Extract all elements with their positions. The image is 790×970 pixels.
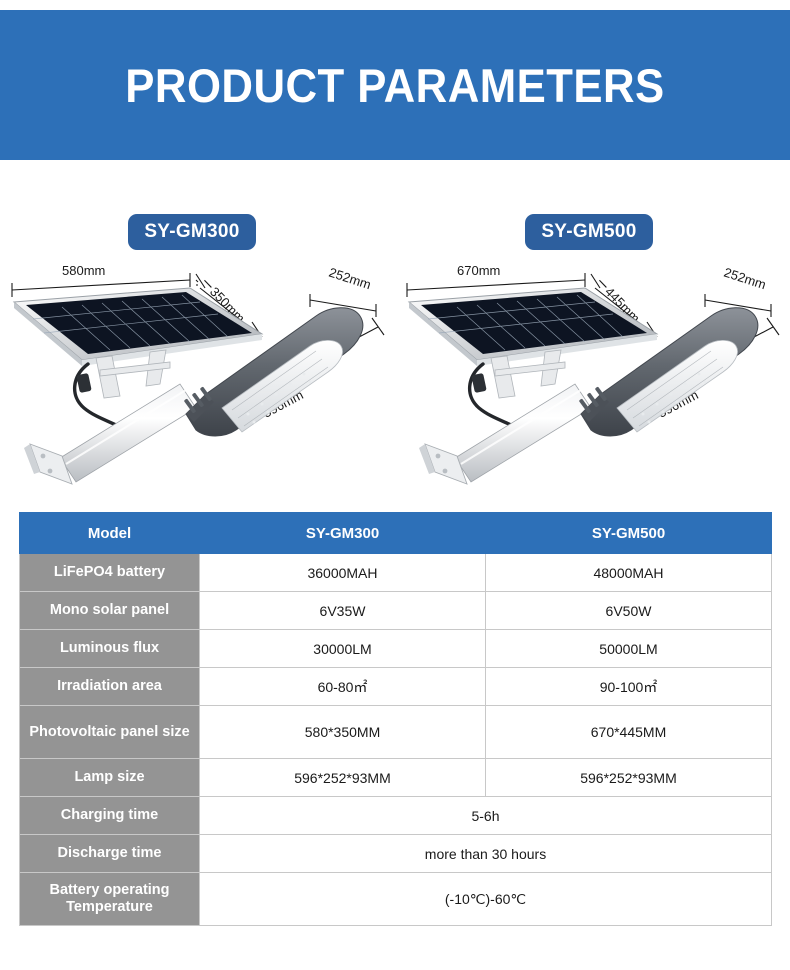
row-value-gm300: 596*252*93MM	[200, 759, 486, 797]
row-value-gm500: 6V50W	[486, 592, 772, 630]
row-value-gm500: 596*252*93MM	[486, 759, 772, 797]
page-header-banner: PRODUCT PARAMETERS	[0, 10, 790, 160]
row-label: Mono solar panel	[20, 592, 200, 630]
cable-connector	[471, 373, 486, 393]
row-label: Charging time	[20, 797, 200, 835]
product-illustrations: 580mm 350mm 252mm	[0, 258, 790, 498]
table-row: Lamp size 596*252*93MM 596*252*93MM	[20, 759, 772, 797]
dimension-label-panel-width: 670mm	[457, 263, 500, 278]
mounting-pole	[455, 384, 591, 482]
row-value-gm500: 90-100㎡	[486, 668, 772, 706]
row-value-gm500: 670*445MM	[486, 706, 772, 759]
table-row: Battery operating Temperature (-10℃)-60℃	[20, 873, 772, 926]
row-value-gm300: 60-80㎡	[200, 668, 486, 706]
product-figure-gm300: 580mm 350mm 252mm	[0, 258, 395, 498]
model-badge-gm500: SY-GM500	[525, 214, 653, 250]
table-body: LiFePO4 battery 36000MAH 48000MAH Mono s…	[20, 554, 772, 926]
table-header-gm500: SY-GM500	[486, 513, 772, 554]
mounting-pole	[60, 384, 196, 482]
table-header-row: Model SY-GM300 SY-GM500	[20, 513, 772, 554]
table-row: Irradiation area 60-80㎡ 90-100㎡	[20, 668, 772, 706]
row-value-gm300: 580*350MM	[200, 706, 486, 759]
wall-mount-bracket	[24, 444, 72, 484]
row-value-shared: more than 30 hours	[200, 835, 772, 873]
dimension-arrow-panel-depth	[204, 280, 211, 287]
table-row: Discharge time more than 30 hours	[20, 835, 772, 873]
table-row: Photovoltaic panel size 580*350MM 670*44…	[20, 706, 772, 759]
row-value-gm500: 48000MAH	[486, 554, 772, 592]
dimension-label-panel-width: 580mm	[62, 263, 105, 278]
dimension-arrow-panel-depth	[599, 280, 606, 287]
table-row: Luminous flux 30000LM 50000LM	[20, 630, 772, 668]
dimension-panel-depth	[196, 283, 198, 285]
row-value-shared: (-10℃)-60℃	[200, 873, 772, 926]
row-value-gm300: 6V35W	[200, 592, 486, 630]
specifications-table: Model SY-GM300 SY-GM500 LiFePO4 battery …	[19, 512, 772, 926]
dimension-label-lamp-width: 252mm	[327, 265, 373, 293]
row-value-gm500: 50000LM	[486, 630, 772, 668]
table-header-model: Model	[20, 513, 200, 554]
row-value-gm300: 36000MAH	[200, 554, 486, 592]
row-label: Lamp size	[20, 759, 200, 797]
table-row: Charging time 5-6h	[20, 797, 772, 835]
model-badge-gm300: SY-GM300	[128, 214, 256, 250]
row-value-gm300: 30000LM	[200, 630, 486, 668]
table-row: LiFePO4 battery 36000MAH 48000MAH	[20, 554, 772, 592]
table-header-gm300: SY-GM300	[200, 513, 486, 554]
wall-mount-bracket	[419, 444, 467, 484]
row-label: Discharge time	[20, 835, 200, 873]
row-value-shared: 5-6h	[200, 797, 772, 835]
model-badge-row: SY-GM300 SY-GM500	[0, 214, 790, 252]
cable-connector	[76, 373, 91, 393]
row-label: Irradiation area	[20, 668, 200, 706]
dimension-label-lamp-width: 252mm	[722, 265, 768, 293]
row-label: Battery operating Temperature	[20, 873, 200, 926]
row-label: LiFePO4 battery	[20, 554, 200, 592]
table-row: Mono solar panel 6V35W 6V50W	[20, 592, 772, 630]
page-title: PRODUCT PARAMETERS	[125, 58, 664, 113]
row-label: Photovoltaic panel size	[20, 706, 200, 759]
row-label: Luminous flux	[20, 630, 200, 668]
product-figure-gm500: 670mm 445mm 252mm	[395, 258, 790, 498]
